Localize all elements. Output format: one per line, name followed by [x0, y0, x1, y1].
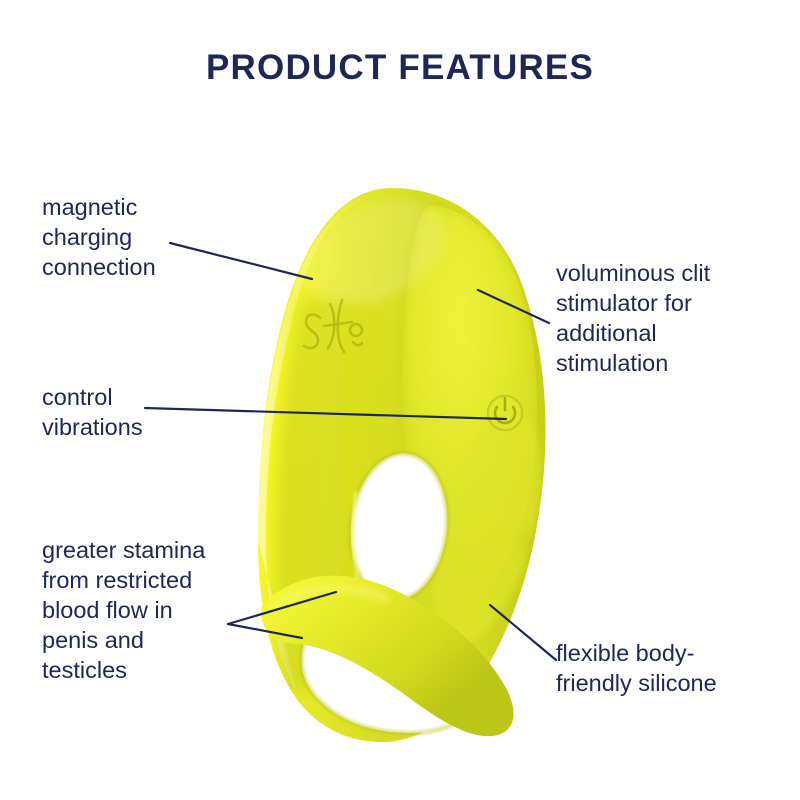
callout-greater-stamina: greater stamina from restricted blood fl…	[42, 535, 292, 685]
product-features-infographic: PRODUCT FEATURES	[0, 0, 800, 800]
callout-flexible-silicone: flexible body- friendly silicone	[556, 638, 794, 698]
callout-magnetic-charging: magnetic charging connection	[42, 192, 272, 282]
power-button[interactable]	[488, 396, 522, 430]
callout-control-vibrations: control vibrations	[42, 382, 272, 442]
callout-clit-stimulator: voluminous clit stimulator for additiona…	[556, 258, 792, 378]
